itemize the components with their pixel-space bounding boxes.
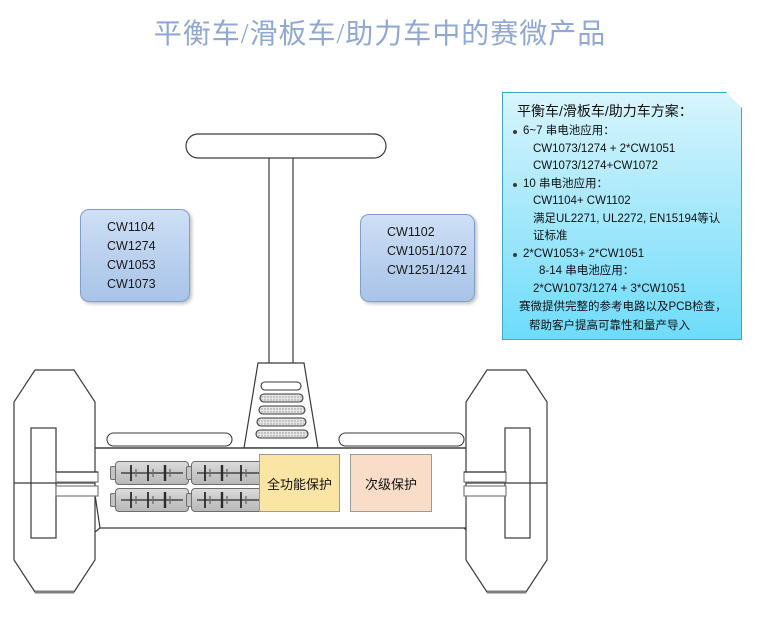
right-product-item: CW1051/1072	[361, 242, 474, 261]
battery-cells-icon	[191, 461, 265, 485]
solution-info-panel[interactable]: 平衡车/滑板车/助力车方案： 6~7 串电池应用：CW1073/1274 + 2…	[502, 92, 742, 340]
left-product-item: CW1274	[81, 237, 189, 256]
info-panel-row: 10 串电池应用：	[511, 176, 735, 194]
battery-cells-icon	[191, 488, 265, 512]
right-product-item: CW1102	[361, 223, 474, 242]
info-panel-row: 证标准	[511, 228, 735, 246]
battery-cells-icon	[115, 488, 189, 512]
info-panel-row: 2*CW1053+ 2*CW1051	[511, 246, 735, 264]
battery-pack-2	[110, 488, 189, 512]
info-panel-row: 满足UL2271, UL2272, EN15194等认	[511, 211, 735, 229]
info-panel-rows: 6~7 串电池应用：CW1073/1274 + 2*CW1051CW1073/1…	[511, 123, 735, 336]
footpad-left	[107, 433, 232, 446]
full-function-protection-box[interactable]: 全功能保护	[259, 454, 340, 512]
steering-post	[269, 158, 293, 363]
info-panel-title: 平衡车/滑板车/助力车方案：	[511, 101, 735, 121]
battery-pack-1	[110, 461, 189, 485]
battery-pack-4	[186, 488, 265, 512]
info-panel-row: 帮助客户提高可靠性和量产导入	[511, 317, 735, 336]
info-panel-row: 2*CW1073/1274 + 3*CW1051	[511, 281, 735, 299]
right-product-callout[interactable]: CW1102 CW1051/1072 CW1251/1241	[360, 214, 475, 302]
secondary-protection-box[interactable]: 次级保护	[350, 454, 432, 512]
battery-cells-icon	[115, 461, 189, 485]
left-product-item: CW1073	[81, 275, 189, 294]
info-panel-row: CW1104+ CW1102	[511, 193, 735, 211]
battery-pack-3	[186, 461, 265, 485]
info-panel-row: 8-14 串电池应用：	[511, 263, 735, 281]
handlebar	[186, 134, 386, 158]
info-panel-row: 赛微提供完整的参考电路以及PCB检查，	[511, 298, 735, 317]
footpad-right	[339, 433, 464, 446]
info-panel-row: 6~7 串电池应用：	[511, 123, 735, 141]
info-panel-row: CW1073/1274+CW1072	[511, 158, 735, 176]
left-product-item: CW1104	[81, 218, 189, 237]
slide-canvas: 平衡车/滑板车/助力车中的赛微产品	[0, 0, 760, 634]
left-product-item: CW1053	[81, 256, 189, 275]
right-product-item: CW1251/1241	[361, 261, 474, 280]
left-product-callout[interactable]: CW1104 CW1274 CW1053 CW1073	[80, 209, 190, 302]
info-panel-row: CW1073/1274 + 2*CW1051	[511, 141, 735, 159]
